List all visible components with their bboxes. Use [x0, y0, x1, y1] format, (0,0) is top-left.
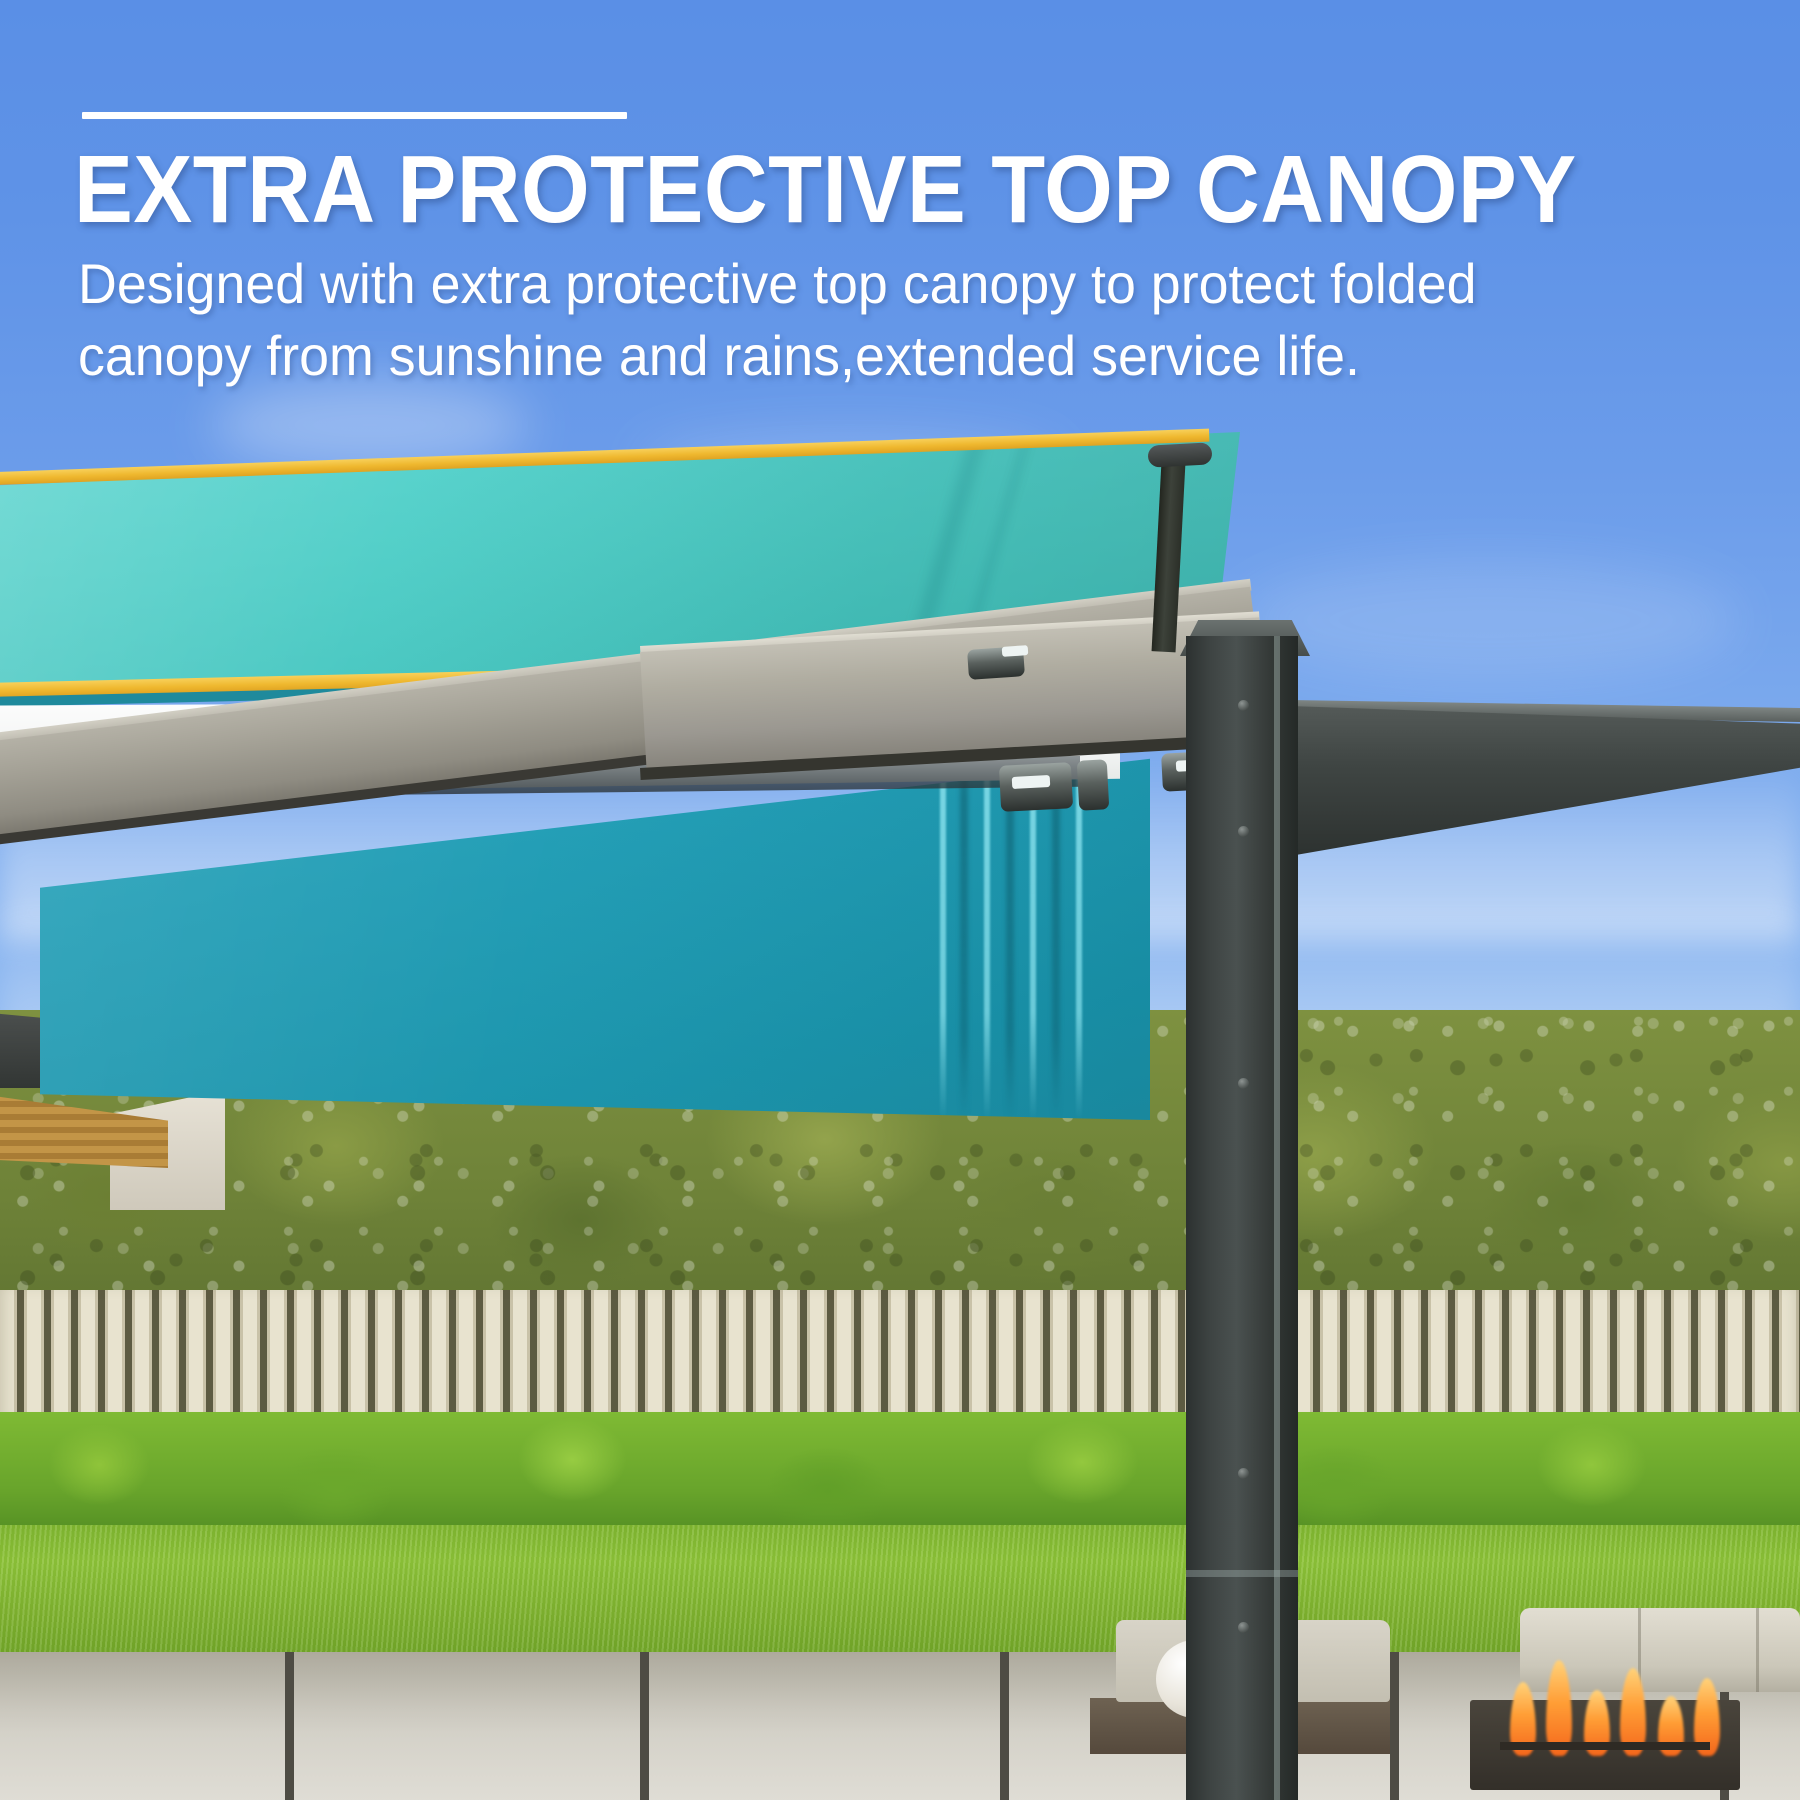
fire-pit-rail [1500, 1742, 1710, 1750]
paving-joint [285, 1652, 294, 1800]
post-screw [1238, 1468, 1249, 1479]
description-text: Designed with extra protective top canop… [78, 248, 1518, 391]
description-line-1: Designed with extra protective top canop… [78, 248, 1518, 320]
paving-joint [1390, 1652, 1399, 1800]
product-banner: EXTRA PROTECTIVE TOP CANOPY Designed wit… [0, 0, 1800, 1800]
post-screw [1238, 700, 1249, 711]
bracket-glint [1012, 775, 1051, 789]
description-line-2: canopy from sunshine and rains,extended … [78, 320, 1518, 392]
mast-end-cap [1147, 442, 1212, 467]
cloud-wisp [1240, 560, 1740, 680]
post-edge-highlight [1274, 636, 1280, 1800]
page-title: EXTRA PROTECTIVE TOP CANOPY [74, 142, 1638, 238]
roller-bracket [1077, 759, 1110, 811]
post-screw [1238, 826, 1249, 837]
post-screw [1238, 1622, 1249, 1633]
post-joint-band [1186, 1570, 1298, 1577]
bracket-glint [1002, 645, 1029, 657]
paving-joint [640, 1652, 649, 1800]
headline-divider [82, 112, 627, 119]
cushion-seam [1756, 1608, 1759, 1692]
post-screw [1238, 1078, 1249, 1089]
paving-joint [1000, 1652, 1009, 1800]
